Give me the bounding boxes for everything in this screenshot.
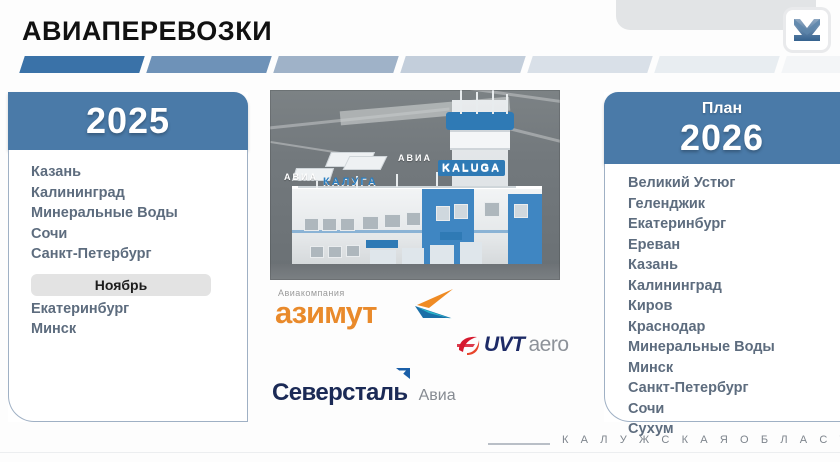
list-item: Краснодар xyxy=(628,317,840,338)
severstal-suffix: Авиа xyxy=(419,387,456,407)
accent-bar xyxy=(654,56,780,73)
list-item: Великий Устюг xyxy=(628,173,840,194)
list-item: Сочи xyxy=(628,399,840,420)
card-2025: 2025 Казань Калининград Минеральные Воды… xyxy=(8,92,248,422)
slide-root: АВИАПЕРЕВОЗКИ 2025 Казань Калинин xyxy=(0,0,840,462)
logo-severstal-avia: Северсталь Авиа xyxy=(272,375,492,407)
severstal-arrow-icon xyxy=(394,365,412,381)
list-item: Геленджик xyxy=(628,194,840,215)
m-logo-icon xyxy=(792,16,822,44)
card-2026-plan-label: План xyxy=(702,101,742,117)
accent-bar xyxy=(781,56,840,73)
list-item: Минск xyxy=(31,319,247,340)
logo-azimut: Авиакомпания азимут xyxy=(275,288,455,334)
month-badge: Ноябрь xyxy=(31,274,211,296)
list-item: Калининград xyxy=(31,183,247,204)
list-item: Казань xyxy=(628,255,840,276)
footer-region: К А Л У Ж С К А Я О Б Л А С Т Ь xyxy=(562,434,840,446)
list-item: Санкт-Петербург xyxy=(628,378,840,399)
list-item: Минск xyxy=(628,358,840,379)
severstal-name-wrap: Северсталь xyxy=(272,379,408,407)
severstal-name: Северсталь xyxy=(272,379,408,406)
card-2026: План 2026 Великий Устюг Геленджик Екатер… xyxy=(604,92,840,422)
card-2026-header: План 2026 xyxy=(604,92,840,164)
photo-border xyxy=(270,90,560,280)
accent-bar-group xyxy=(18,56,828,73)
m-logo-badge xyxy=(786,10,828,50)
card-2026-body: Великий Устюг Геленджик Екатеринбург Ере… xyxy=(604,164,840,422)
card-2025-body: Казань Калининград Минеральные Воды Сочи… xyxy=(8,150,248,422)
accent-bar xyxy=(146,56,272,73)
list-item: Киров xyxy=(628,296,840,317)
accent-bar xyxy=(400,56,526,73)
card-2025-year: 2025 xyxy=(86,103,170,139)
list-item: Санкт-Петербург xyxy=(31,244,247,265)
card-2026-year: 2026 xyxy=(680,120,764,156)
uvt-name: UVT xyxy=(484,333,525,357)
list-item: Калининград xyxy=(628,276,840,297)
logo-uvt-aero: UVT aero xyxy=(455,330,595,360)
list-item: Казань xyxy=(31,162,247,183)
accent-bar xyxy=(527,56,653,73)
card-2025-header: 2025 xyxy=(8,92,248,150)
uvt-suffix: aero xyxy=(529,333,569,357)
uvt-swoosh-icon xyxy=(455,334,481,356)
page-title: АВИАПЕРЕВОЗКИ xyxy=(22,16,272,47)
accent-bar xyxy=(19,56,145,73)
accent-bar xyxy=(273,56,399,73)
airport-photo: КАЛУГА АВИА АВИА KALUGA xyxy=(270,90,560,280)
list-item: Ереван xyxy=(628,235,840,256)
list-item: Минеральные Воды xyxy=(628,337,840,358)
footer-bottom-rule xyxy=(0,452,840,453)
list-item: Сочи xyxy=(31,224,247,245)
footer-rule-left xyxy=(488,443,550,445)
azimut-swoosh-icon xyxy=(393,288,455,322)
list-item: Минеральные Воды xyxy=(31,203,247,224)
list-item: Екатеринбург xyxy=(31,299,247,320)
list-item: Екатеринбург xyxy=(628,214,840,235)
